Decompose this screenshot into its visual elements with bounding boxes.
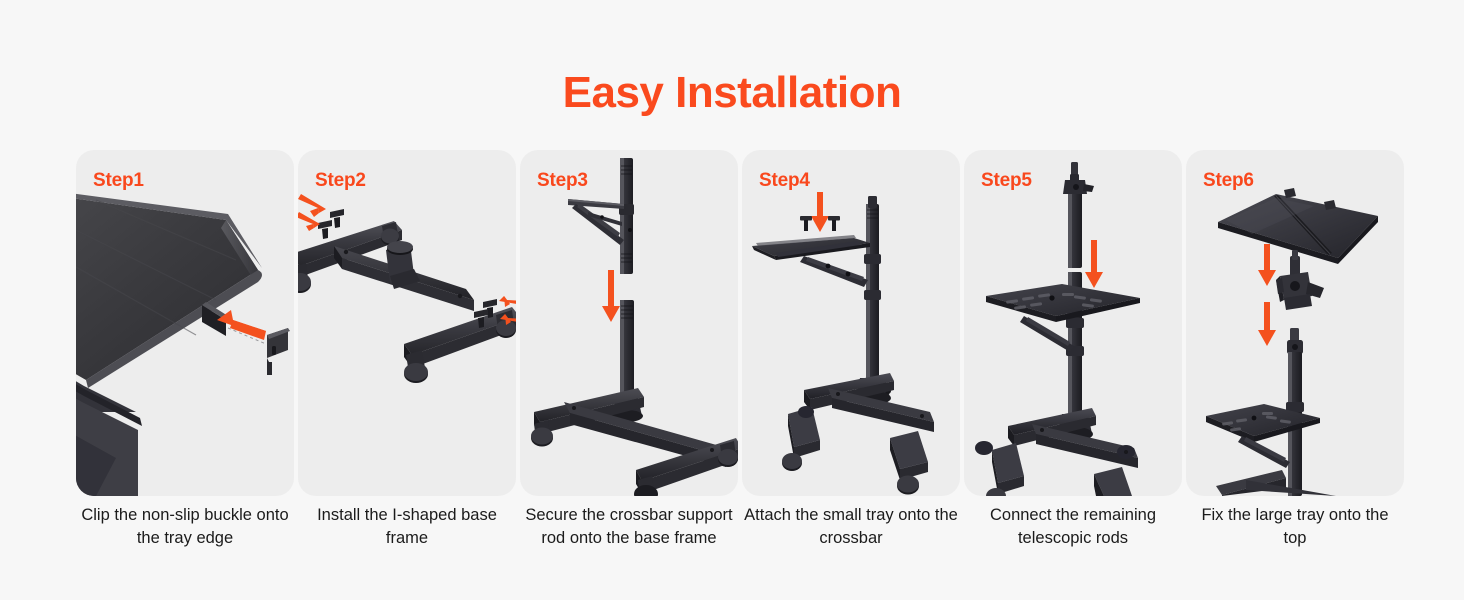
caster-wheel <box>798 406 814 418</box>
easy-installation-page: Easy Installation Step1 <box>0 0 1464 600</box>
small-tray-part <box>986 284 1140 322</box>
page-title: Easy Installation <box>0 68 1464 118</box>
step-label-1: Step1 <box>93 170 144 192</box>
installation-steps-row: Step1 <box>76 150 1388 496</box>
assembly-arrow-icon <box>499 296 516 307</box>
step-label-3: Step3 <box>537 170 588 192</box>
step-label-4: Step4 <box>759 170 810 192</box>
step-caption-6: Fix the large tray onto the top <box>1186 504 1404 550</box>
step-caption-1: Clip the non-slip buckle onto the tray e… <box>76 504 294 550</box>
assembly-arrow-icon <box>298 212 320 231</box>
step-label-5: Step5 <box>981 170 1032 192</box>
clamp-mount-part <box>1276 250 1324 310</box>
large-tray-on-top-illustration <box>1186 150 1404 496</box>
assembly-arrow-icon <box>298 194 326 217</box>
telescopic-rod-part <box>1063 162 1094 268</box>
telescopic-rods-illustration <box>964 150 1182 496</box>
screw-part <box>828 216 840 231</box>
assembly-arrow-icon <box>1258 302 1276 346</box>
caster-wheel <box>975 441 993 455</box>
step-caption-3: Secure the crossbar support rod onto the… <box>520 504 738 550</box>
step-card-4[interactable]: Step4 <box>742 150 960 496</box>
step-caption-5: Connect the remaining telescopic rods <box>964 504 1182 550</box>
assembly-arrow-icon <box>811 192 829 232</box>
step-label-2: Step2 <box>315 170 366 192</box>
base-frame <box>975 408 1138 496</box>
step-card-5[interactable]: Step5 <box>964 150 1182 496</box>
installation-captions-row: Clip the non-slip buckle onto the tray e… <box>76 504 1388 550</box>
step-card-3[interactable]: Step3 <box>520 150 738 496</box>
step-card-2[interactable]: Step2 <box>298 150 516 496</box>
caster-wheel <box>897 476 919 495</box>
step-caption-2: Install the I-shaped base frame <box>298 504 516 550</box>
i-shaped-base-frame-illustration <box>298 150 516 496</box>
step-card-6[interactable]: Step6 <box>1186 150 1404 496</box>
crossbar-support-rod-illustration <box>520 150 738 496</box>
step-caption-4: Attach the small tray onto the crossbar <box>742 504 960 550</box>
screw-part <box>800 216 812 231</box>
assembly-arrow-icon <box>1258 244 1276 286</box>
assembly-arrow-icon <box>1085 240 1103 288</box>
step-card-1[interactable]: Step1 <box>76 150 294 496</box>
tray-corner-with-buckle-illustration <box>76 150 294 496</box>
screw-part <box>318 220 332 239</box>
non-slip-buckle-part <box>267 328 290 375</box>
base-frame-with-pole <box>531 300 738 496</box>
assembly-arrow-icon <box>602 270 620 322</box>
step-label-6: Step6 <box>1203 170 1254 192</box>
base-frame <box>782 373 934 495</box>
small-tray-part <box>752 235 870 260</box>
pole-socket <box>386 241 420 289</box>
small-tray-on-crossbar-illustration <box>742 150 960 496</box>
screw-part <box>330 209 344 228</box>
caster-wheel <box>782 453 802 471</box>
